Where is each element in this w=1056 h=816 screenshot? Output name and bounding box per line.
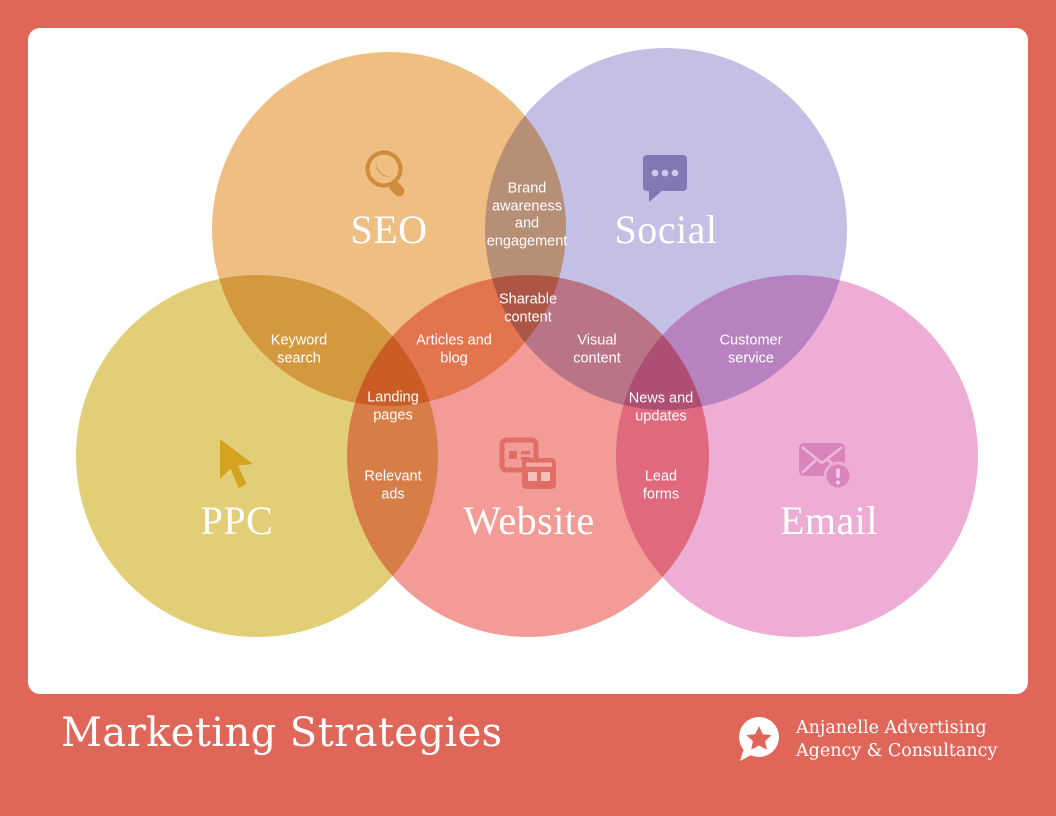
footer: Marketing Strategies Anjanelle Advertisi…	[0, 694, 1056, 816]
browser-windows-icon	[498, 436, 560, 494]
mouse-cursor-icon	[211, 434, 261, 496]
diagram-card: SEO Social PPC	[28, 28, 1028, 694]
venn-intersection-label: Landing pages	[357, 389, 429, 424]
venn-label-email: Email	[780, 501, 878, 541]
brand-name-line2: Agency & Consultancy	[796, 740, 997, 763]
venn-intersection-label: Lead forms	[630, 468, 692, 503]
page-title: Marketing Strategies	[61, 710, 503, 756]
venn-label-website: Website	[463, 501, 594, 541]
brand-name: Anjanelle Advertising Agency & Consultan…	[796, 717, 997, 764]
venn-label-ppc: PPC	[201, 501, 274, 541]
venn-intersection-label: Brand awareness and engagement	[482, 181, 572, 252]
brand-logo[interactable]: Anjanelle Advertising Agency & Consultan…	[735, 716, 997, 764]
venn-intersection-label: Keyword search	[254, 332, 344, 367]
venn-intersection-label: News and updates	[617, 390, 705, 425]
magnifier-icon	[360, 145, 418, 203]
venn-labels: SEO Social PPC	[28, 28, 1028, 694]
brand-name-line1: Anjanelle Advertising	[796, 717, 997, 740]
venn-intersection-label: Relevant ads	[357, 468, 429, 503]
venn-label-social: Social	[615, 210, 718, 250]
venn-intersection-label: Articles and blog	[413, 332, 495, 367]
speech-bubble-dots-icon	[635, 145, 695, 203]
venn-intersection-label: Sharable content	[485, 291, 571, 326]
venn-intersection-label: Visual content	[560, 332, 634, 367]
speech-bubble-star-icon	[735, 716, 783, 764]
venn-label-seo: SEO	[350, 210, 427, 250]
venn-intersection-label: Customer service	[706, 332, 796, 367]
envelope-alert-icon	[796, 436, 858, 494]
